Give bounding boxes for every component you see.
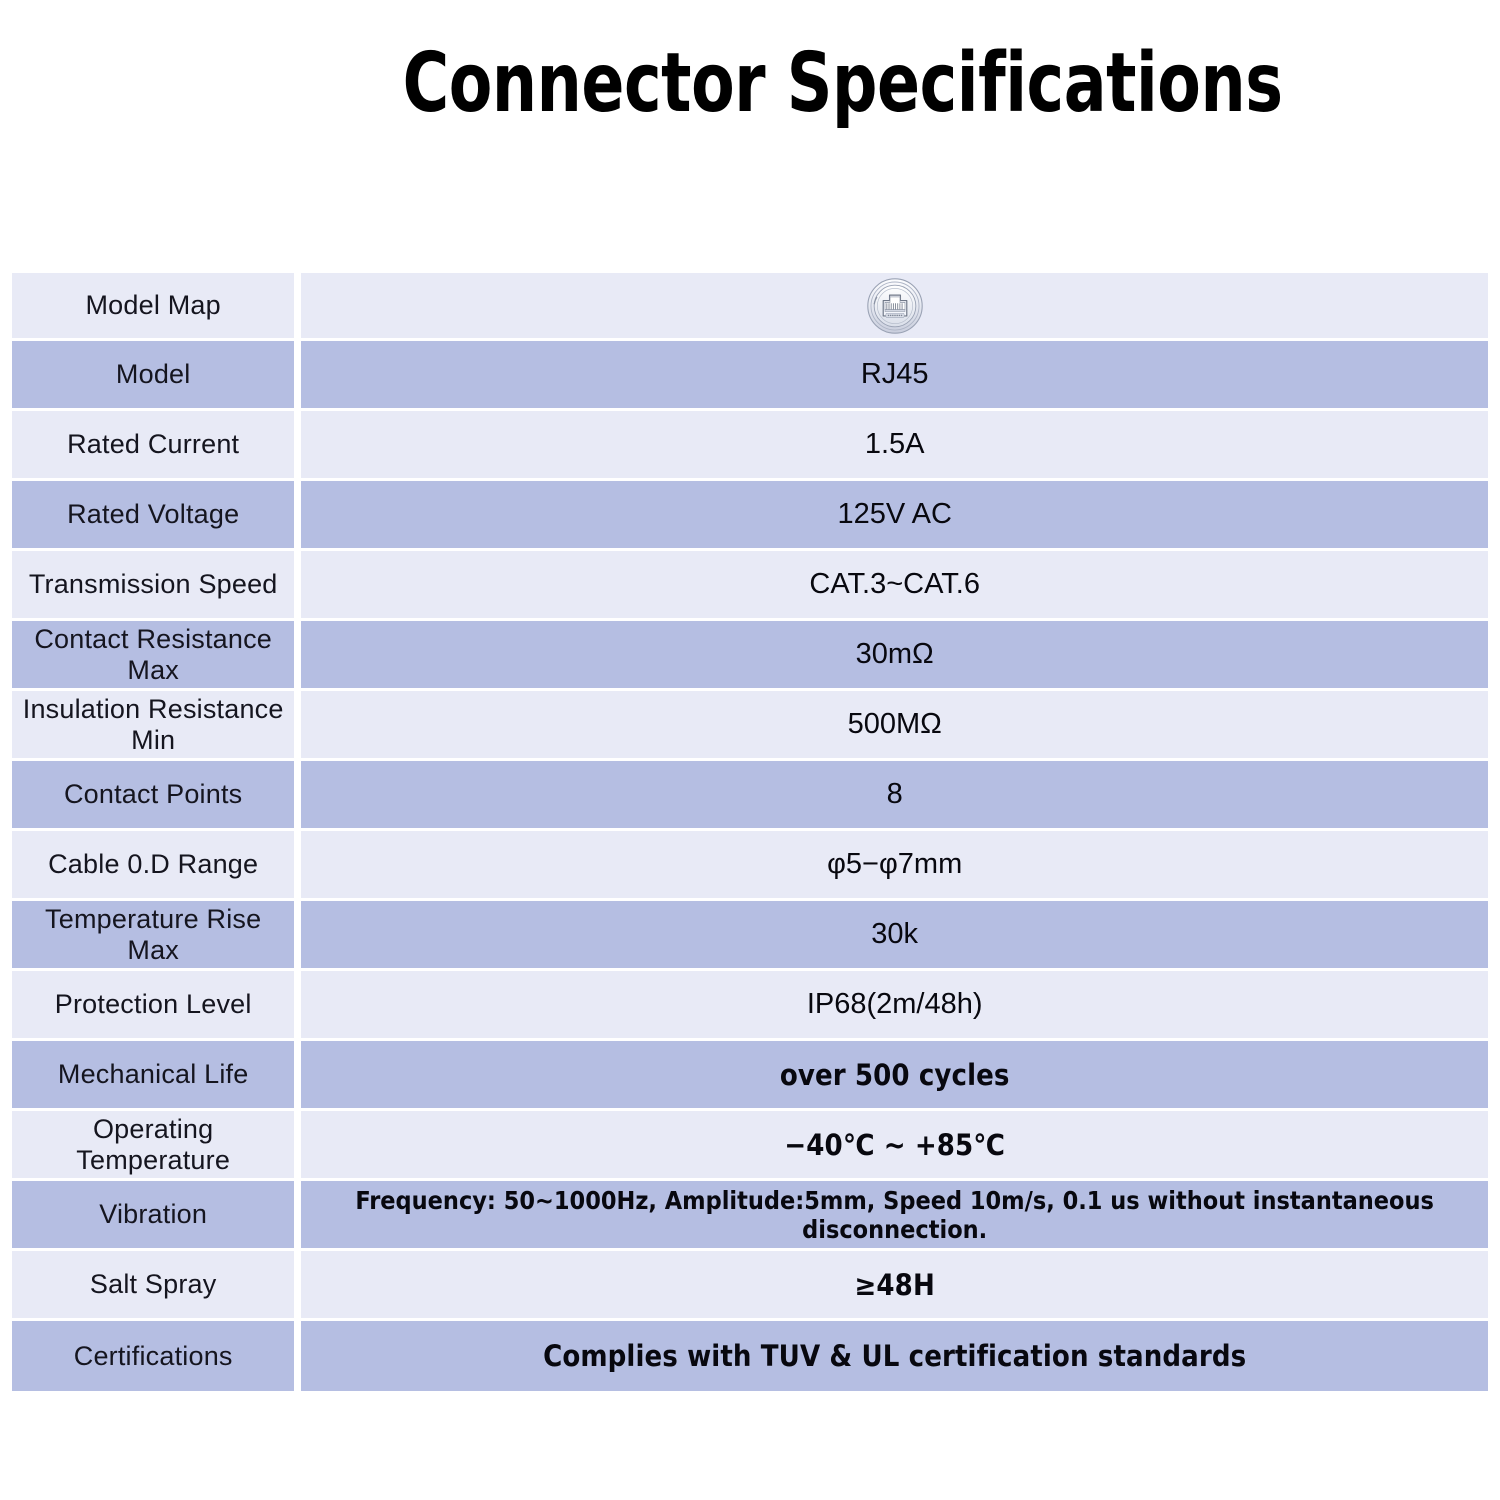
table-row: Vibration Frequency: 50~1000Hz, Amplitud… bbox=[12, 1181, 1488, 1251]
row-label-protection-level: Protection Level bbox=[12, 971, 301, 1041]
row-value-mechanical-life: over 500 cycles bbox=[301, 1041, 1488, 1111]
row-label-transmission-speed: Transmission Speed bbox=[12, 551, 301, 621]
row-label-contact-resistance-max: Contact Resistance Max bbox=[12, 621, 301, 691]
value-text: 1.5A bbox=[865, 428, 925, 461]
row-label-contact-points: Contact Points bbox=[12, 761, 301, 831]
label-text: Cable 0.D Range bbox=[48, 849, 258, 880]
row-label-operating-temperature: Operating Temperature bbox=[12, 1111, 301, 1181]
value-text: φ5−φ7mm bbox=[827, 848, 962, 881]
specifications-table: Model Map bbox=[12, 273, 1488, 1391]
table-row: Rated Voltage 125V AC bbox=[12, 481, 1488, 551]
value-text: 30k bbox=[871, 918, 918, 951]
row-label-mechanical-life: Mechanical Life bbox=[12, 1041, 301, 1111]
row-label-insulation-resistance-min: Insulation Resistance Min bbox=[12, 691, 301, 761]
value-text: over 500 cycles bbox=[780, 1058, 1010, 1092]
row-label-temperature-rise-max: Temperature Rise Max bbox=[12, 901, 301, 971]
row-value-rated-current: 1.5A bbox=[301, 411, 1488, 481]
value-text: Complies with TUV & UL certification sta… bbox=[543, 1339, 1246, 1373]
row-value-temperature-rise-max: 30k bbox=[301, 901, 1488, 971]
row-value-transmission-speed: CAT.3~CAT.6 bbox=[301, 551, 1488, 621]
label-text: Contact Points bbox=[64, 779, 242, 810]
label-text: Rated Current bbox=[67, 429, 239, 460]
row-value-vibration: Frequency: 50~1000Hz, Amplitude:5mm, Spe… bbox=[301, 1181, 1488, 1251]
table-row: Transmission Speed CAT.3~CAT.6 bbox=[12, 551, 1488, 621]
row-label-rated-voltage: Rated Voltage bbox=[12, 481, 301, 551]
row-label-model: Model bbox=[12, 341, 301, 411]
table-row: Protection Level IP68(2m/48h) bbox=[12, 971, 1488, 1041]
row-value-rated-voltage: 125V AC bbox=[301, 481, 1488, 551]
table-row: Model RJ45 bbox=[12, 341, 1488, 411]
value-text: CAT.3~CAT.6 bbox=[809, 568, 980, 601]
label-text: Mechanical Life bbox=[58, 1059, 249, 1090]
row-label-cable-od-range: Cable 0.D Range bbox=[12, 831, 301, 901]
table-row: Rated Current 1.5A bbox=[12, 411, 1488, 481]
row-label-salt-spray: Salt Spray bbox=[12, 1251, 301, 1321]
value-text: IP68(2m/48h) bbox=[807, 988, 983, 1021]
row-value-insulation-resistance-min: 500MΩ bbox=[301, 691, 1488, 761]
row-value-model: RJ45 bbox=[301, 341, 1488, 411]
row-label-rated-current: Rated Current bbox=[12, 411, 301, 481]
rj45-connector-icon bbox=[866, 277, 924, 335]
row-value-contact-resistance-max: 30mΩ bbox=[301, 621, 1488, 691]
value-text: 125V AC bbox=[837, 498, 951, 531]
row-value-operating-temperature: −40℃ ~ +85℃ bbox=[301, 1111, 1488, 1181]
table-row: Contact Points 8 bbox=[12, 761, 1488, 831]
label-text: Model bbox=[116, 359, 191, 390]
value-text: RJ45 bbox=[861, 358, 929, 391]
table-row: Insulation Resistance Min 500MΩ bbox=[12, 691, 1488, 761]
row-label-certifications: Certifications bbox=[12, 1321, 301, 1391]
value-text: 30mΩ bbox=[856, 638, 934, 671]
row-value-cable-od-range: φ5−φ7mm bbox=[301, 831, 1488, 901]
table-row: Contact Resistance Max 30mΩ bbox=[12, 621, 1488, 691]
table-row: Model Map bbox=[12, 273, 1488, 341]
label-text: Insulation Resistance Min bbox=[18, 694, 288, 756]
table-row: Salt Spray ≥48H bbox=[12, 1251, 1488, 1321]
value-text: −40℃ ~ +85℃ bbox=[784, 1128, 1005, 1162]
table-row: Mechanical Life over 500 cycles bbox=[12, 1041, 1488, 1111]
page-title-container: Connector Specifications bbox=[0, 28, 1500, 138]
row-value-model-map bbox=[301, 273, 1488, 341]
label-text: Model Map bbox=[85, 290, 220, 321]
value-text: Frequency: 50~1000Hz, Amplitude:5mm, Spe… bbox=[307, 1186, 1482, 1244]
value-text: ≥48H bbox=[854, 1268, 934, 1302]
page-title: Connector Specifications bbox=[403, 36, 1283, 131]
row-value-salt-spray: ≥48H bbox=[301, 1251, 1488, 1321]
label-text: Transmission Speed bbox=[29, 569, 278, 600]
row-value-protection-level: IP68(2m/48h) bbox=[301, 971, 1488, 1041]
label-text: Operating Temperature bbox=[18, 1114, 288, 1176]
label-text: Rated Voltage bbox=[67, 499, 239, 530]
label-text: Certifications bbox=[74, 1341, 233, 1372]
specifications-table-body: Model Map bbox=[12, 273, 1488, 1391]
label-text: Temperature Rise Max bbox=[18, 904, 288, 966]
label-text: Vibration bbox=[99, 1199, 207, 1230]
label-text: Contact Resistance Max bbox=[18, 624, 288, 686]
table-row: Cable 0.D Range φ5−φ7mm bbox=[12, 831, 1488, 901]
row-value-certifications: Complies with TUV & UL certification sta… bbox=[301, 1321, 1488, 1391]
value-text: 500MΩ bbox=[848, 708, 942, 741]
row-label-model-map: Model Map bbox=[12, 273, 301, 341]
table-row: Certifications Complies with TUV & UL ce… bbox=[12, 1321, 1488, 1391]
row-label-vibration: Vibration bbox=[12, 1181, 301, 1251]
value-text: 8 bbox=[887, 778, 903, 811]
label-text: Protection Level bbox=[55, 989, 252, 1020]
table-row: Temperature Rise Max 30k bbox=[12, 901, 1488, 971]
table-row: Operating Temperature −40℃ ~ +85℃ bbox=[12, 1111, 1488, 1181]
label-text: Salt Spray bbox=[90, 1269, 217, 1300]
spec-sheet-page: Connector Specifications Model Map bbox=[0, 0, 1500, 1500]
row-value-contact-points: 8 bbox=[301, 761, 1488, 831]
